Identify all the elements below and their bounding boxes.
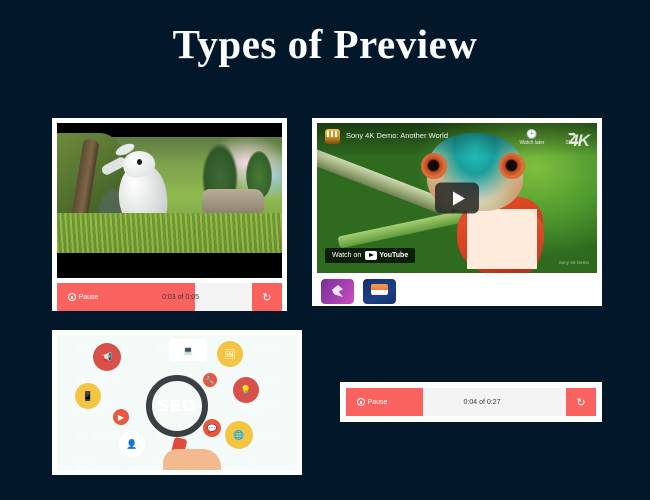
progress-track[interactable]: 0:04 of 0:27 [398,388,566,416]
user-bubble-icon: 👤 [119,431,145,457]
youtube-player-stage[interactable]: 4K Sony 4K Demo: Another World 🕑 Watch l… [317,123,597,273]
replay-button[interactable]: ↻ [252,283,282,311]
play-button-icon[interactable] [435,183,479,214]
chat-bubble-icon: 💬 [203,419,221,437]
watch-later-label: Watch later [519,140,544,146]
bunny-eye-shape [137,159,142,165]
chameleon-spots-shape [467,209,537,269]
image-bubble-icon: 🖼 [217,341,243,367]
audio-player-controls: Pause 0:04 of 0:27 ↻ [346,388,596,416]
replay-icon: ↻ [576,396,585,409]
bunny-video-stage[interactable] [57,123,282,278]
watch-later-button[interactable]: 🕑 Watch later [515,129,549,146]
browser-bubble-icon: 💻 [169,339,207,361]
share-arrow-icon: ➥ [568,129,576,139]
bunny-video-frame [57,137,282,253]
video-credit-text: Sony 4K Demo [559,260,589,265]
app-icon-blue[interactable] [363,279,396,304]
bunny-player-controls: Pause 0:03 of 0:05 ↻ [57,283,282,311]
channel-avatar-icon[interactable] [325,129,340,144]
seo-headline: SEO [158,396,197,416]
time-label: 0:03 of 0:05 [162,294,199,301]
youtube-logo-icon: YouTube [365,251,408,260]
youtube-wordmark: YouTube [379,252,408,259]
audio-preview-card: Pause 0:04 of 0:27 ↻ [340,382,602,422]
share-button[interactable]: ➥ Share [555,129,589,146]
watch-on-youtube-button[interactable]: Watch on YouTube [325,248,415,263]
page-title: Types of Preview [0,20,650,68]
play-bubble-icon: ▶ [113,409,129,425]
pause-button[interactable]: Pause [346,388,398,416]
share-label: Share [565,140,578,146]
seo-image-stage[interactable]: ficKrr ficKrr ficKrr ficKrr ficKrr ficKr… [57,335,297,470]
seo-image-card: ficKrr ficKrr ficKrr ficKrr ficKrr ficKr… [52,330,302,475]
pause-button-label: Pause [79,294,99,301]
replay-icon: ↻ [262,291,271,304]
lightbulb-bubble-icon: 💡 [233,377,259,403]
youtube-play-glyph [365,251,377,260]
mobile-bubble-icon: 📱 [75,383,101,409]
wrench-bubble-icon: 🔧 [203,373,217,387]
pause-button-label: Pause [368,399,388,406]
hand-shape [163,449,221,470]
megaphone-bubble-icon: 📢 [93,343,121,371]
video-title[interactable]: Sony 4K Demo: Another World [346,129,509,142]
progress-track[interactable]: 0:03 of 0:05 [109,283,252,311]
clock-icon: 🕑 [526,129,537,139]
globe-bubble-icon: 🌐 [225,421,253,449]
pause-circle-icon [68,293,76,301]
progress-fill [398,388,423,416]
replay-button[interactable]: ↻ [566,388,596,416]
rock-shape [202,189,264,213]
youtube-top-bar: Sony 4K Demo: Another World 🕑 Watch late… [317,123,597,157]
grass-foreground-shape [57,213,282,253]
app-icon-purple[interactable] [321,279,354,304]
youtube-embed-card: 4K Sony 4K Demo: Another World 🕑 Watch l… [312,118,602,306]
app-icon-row [317,273,597,304]
watch-on-label: Watch on [332,252,361,259]
time-label: 0:04 of 0:27 [464,399,501,406]
bunny-video-card: Pause 0:03 of 0:05 ↻ [52,118,287,311]
preview-types-page: Types of Preview Pause [0,0,650,500]
magnifier-lens: SEO [146,375,208,437]
pause-circle-icon [357,398,365,406]
pause-button[interactable]: Pause [57,283,109,311]
